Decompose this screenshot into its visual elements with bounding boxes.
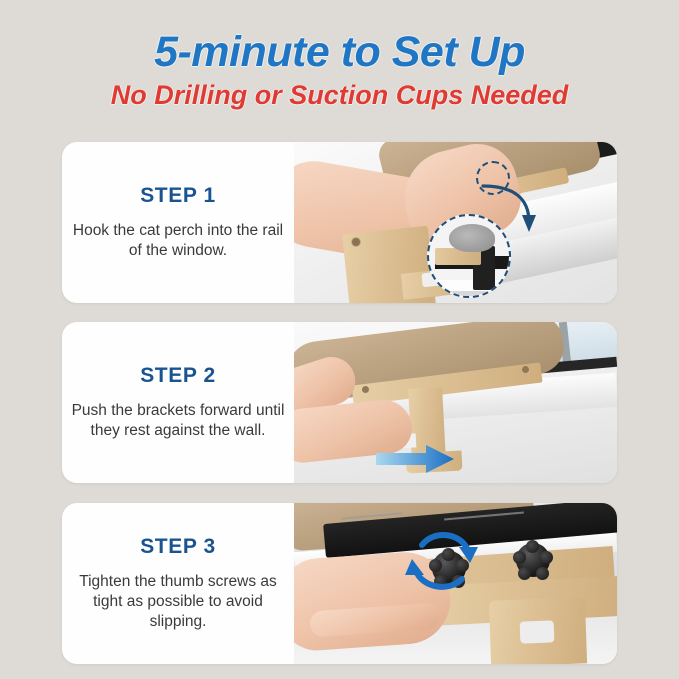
- step-label: STEP 2: [140, 364, 216, 388]
- board-screw: [522, 366, 529, 373]
- page-title: 5-minute to Set Up: [0, 30, 679, 75]
- step-description: Tighten the thumb screws as tight as pos…: [68, 572, 288, 631]
- step-label: STEP 3: [140, 535, 216, 559]
- heading-block: 5-minute to Set Up No Drilling or Suctio…: [0, 0, 679, 111]
- knob-lobe: [540, 551, 553, 564]
- board-screw: [362, 386, 369, 393]
- step-text-pane: STEP 1 Hook the cat perch into the rail …: [62, 142, 294, 303]
- push-arrow-icon: [376, 444, 454, 474]
- step-text-pane: STEP 2 Push the brackets forward until t…: [62, 322, 294, 483]
- rail-edge-line: [429, 291, 509, 296]
- leg-cutout-slot: [520, 620, 555, 643]
- step-card: STEP 2 Push the brackets forward until t…: [62, 322, 617, 483]
- step-photo: [294, 503, 617, 664]
- bracket-screw: [352, 238, 360, 246]
- fur-texture-detail: [449, 224, 495, 252]
- knob-lobe: [536, 567, 549, 580]
- callout-circle-magnified: [427, 214, 511, 298]
- step-label: STEP 1: [140, 184, 216, 208]
- step-card: STEP 1 Hook the cat perch into the rail …: [62, 142, 617, 303]
- step-description: Push the brackets forward until they res…: [68, 401, 288, 441]
- step-description: Hook the cat perch into the rail of the …: [68, 221, 288, 261]
- thumb-screw-knob: [516, 543, 550, 577]
- knob-lobe: [513, 551, 526, 564]
- knob-lobe: [526, 540, 539, 553]
- knob-lobe: [518, 567, 531, 580]
- infographic-page: 5-minute to Set Up No Drilling or Suctio…: [0, 0, 679, 679]
- rotation-arrows-icon: [404, 523, 478, 599]
- step-text-pane: STEP 3 Tighten the thumb screws as tight…: [62, 503, 294, 664]
- step-photo: [294, 142, 617, 303]
- page-subtitle: No Drilling or Suction Cups Needed: [0, 81, 679, 111]
- step-photo: [294, 322, 617, 483]
- step-card: STEP 3 Tighten the thumb screws as tight…: [62, 503, 617, 664]
